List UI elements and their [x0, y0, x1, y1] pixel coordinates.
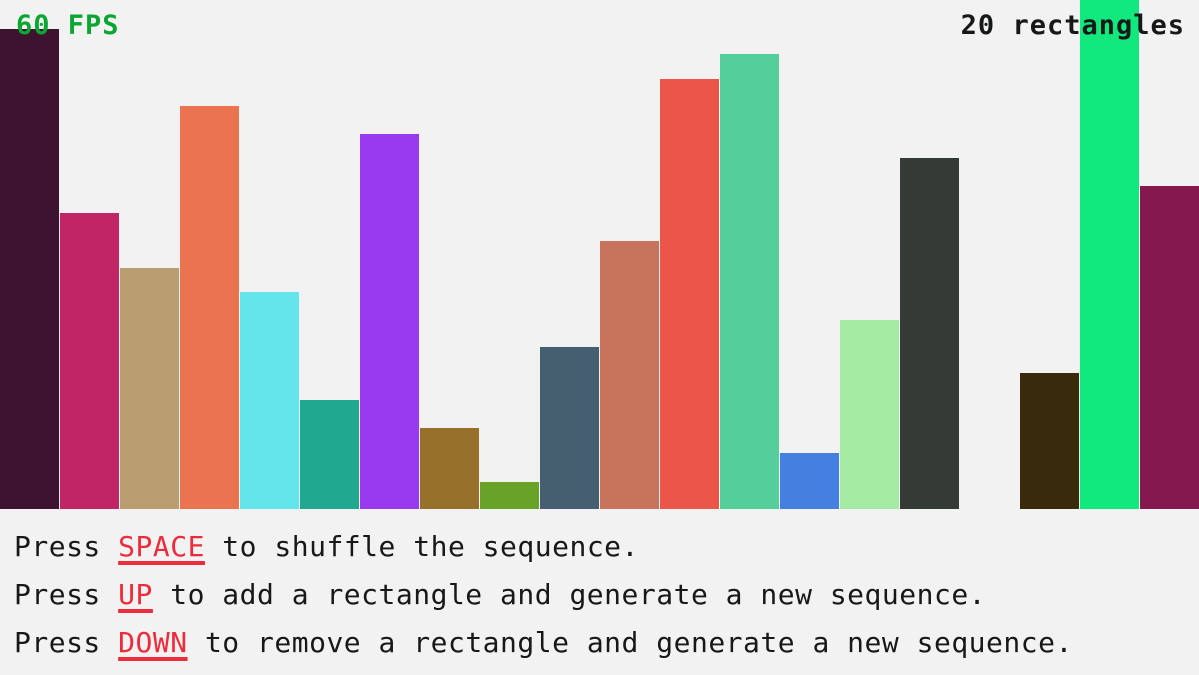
bar-rectangle [240, 292, 299, 509]
instruction-prefix: Press [14, 626, 118, 659]
instructions-panel: Press SPACE to shuffle the sequence.Pres… [14, 523, 1073, 667]
key-hint-space[interactable]: SPACE [118, 530, 205, 563]
bar-rectangle [1140, 186, 1199, 509]
instruction-suffix: to remove a rectangle and generate a new… [188, 626, 1073, 659]
bar-rectangle [900, 158, 959, 509]
bar-rectangle [180, 106, 239, 509]
key-hint-up[interactable]: UP [118, 578, 153, 611]
instruction-prefix: Press [14, 578, 118, 611]
instruction-line-1: Press SPACE to shuffle the sequence. [14, 523, 1073, 571]
instruction-line-3: Press DOWN to remove a rectangle and gen… [14, 619, 1073, 667]
game-canvas[interactable]: 60 FPS 20 rectangles Press SPACE to shuf… [0, 0, 1199, 675]
bar-rectangle [60, 213, 119, 509]
bar-rectangle [1080, 0, 1139, 509]
instruction-line-2: Press UP to add a rectangle and generate… [14, 571, 1073, 619]
bar-rectangle [1020, 373, 1079, 509]
bar-rectangle [120, 268, 179, 509]
key-hint-down[interactable]: DOWN [118, 626, 187, 659]
rectangle-count-label: 20 rectangles [961, 12, 1185, 39]
bar-rectangle [300, 400, 359, 509]
bar-rectangle [360, 134, 419, 509]
bar-rectangle [540, 347, 599, 509]
bar-chart [0, 0, 1199, 509]
bar-rectangle [420, 428, 479, 509]
bar-rectangle [780, 453, 839, 509]
instruction-suffix: to shuffle the sequence. [205, 530, 639, 563]
bar-rectangle [720, 54, 779, 509]
bar-rectangle [840, 320, 899, 509]
bar-rectangle [600, 241, 659, 509]
bar-rectangle [660, 79, 719, 509]
fps-counter: 60 FPS [16, 12, 120, 39]
instruction-prefix: Press [14, 530, 118, 563]
instruction-suffix: to add a rectangle and generate a new se… [153, 578, 986, 611]
bar-rectangle [0, 29, 59, 509]
bar-rectangle [480, 482, 539, 509]
